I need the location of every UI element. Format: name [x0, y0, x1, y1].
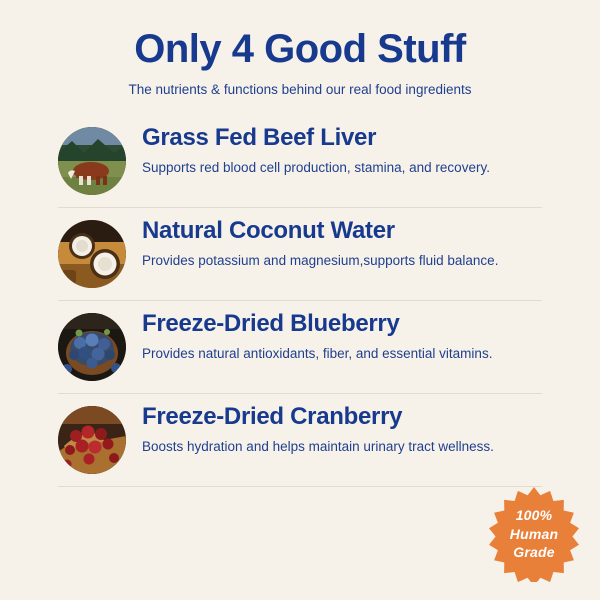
list-item: Freeze-Dried Blueberry Provides natural …: [58, 301, 542, 394]
ingredient-name: Freeze-Dried Blueberry: [142, 311, 542, 337]
ingredient-name: Grass Fed Beef Liver: [142, 125, 542, 151]
page-subtitle: The nutrients & functions behind our rea…: [0, 82, 600, 97]
list-item-text: Freeze-Dried Blueberry Provides natural …: [142, 311, 542, 364]
coconut-water-photo: [58, 220, 126, 288]
ingredient-description: Boosts hydration and helps maintain urin…: [142, 437, 542, 457]
infographic-page: Only 4 Good Stuff The nutrients & functi…: [0, 0, 600, 600]
list-item: Natural Coconut Water Provides potassium…: [58, 208, 542, 301]
cranberry-photo: [58, 406, 126, 474]
list-item-text: Freeze-Dried Cranberry Boosts hydration …: [142, 404, 542, 457]
status-badge: 100% Human Grade: [486, 486, 582, 582]
list-item-text: Grass Fed Beef Liver Supports red blood …: [142, 125, 542, 178]
badge-line-2: Human: [510, 525, 558, 544]
ingredient-description: Provides natural antioxidants, fiber, an…: [142, 344, 542, 364]
ingredient-list: Grass Fed Beef Liver Supports red blood …: [0, 115, 600, 487]
ingredient-description: Supports red blood cell production, stam…: [142, 158, 542, 178]
ingredient-description: Provides potassium and magnesium,support…: [142, 251, 542, 271]
list-item-text: Natural Coconut Water Provides potassium…: [142, 218, 542, 271]
badge-line-1: 100%: [516, 506, 553, 525]
badge-text: 100% Human Grade: [486, 486, 582, 582]
header: Only 4 Good Stuff The nutrients & functi…: [0, 0, 600, 97]
list-item: Grass Fed Beef Liver Supports red blood …: [58, 115, 542, 208]
badge-line-3: Grade: [513, 543, 554, 562]
ingredient-name: Freeze-Dried Cranberry: [142, 404, 542, 430]
blueberry-photo: [58, 313, 126, 381]
ingredient-name: Natural Coconut Water: [142, 218, 542, 244]
page-title: Only 4 Good Stuff: [0, 28, 600, 70]
beef-liver-photo: [58, 127, 126, 195]
list-item: Freeze-Dried Cranberry Boosts hydration …: [58, 394, 542, 487]
